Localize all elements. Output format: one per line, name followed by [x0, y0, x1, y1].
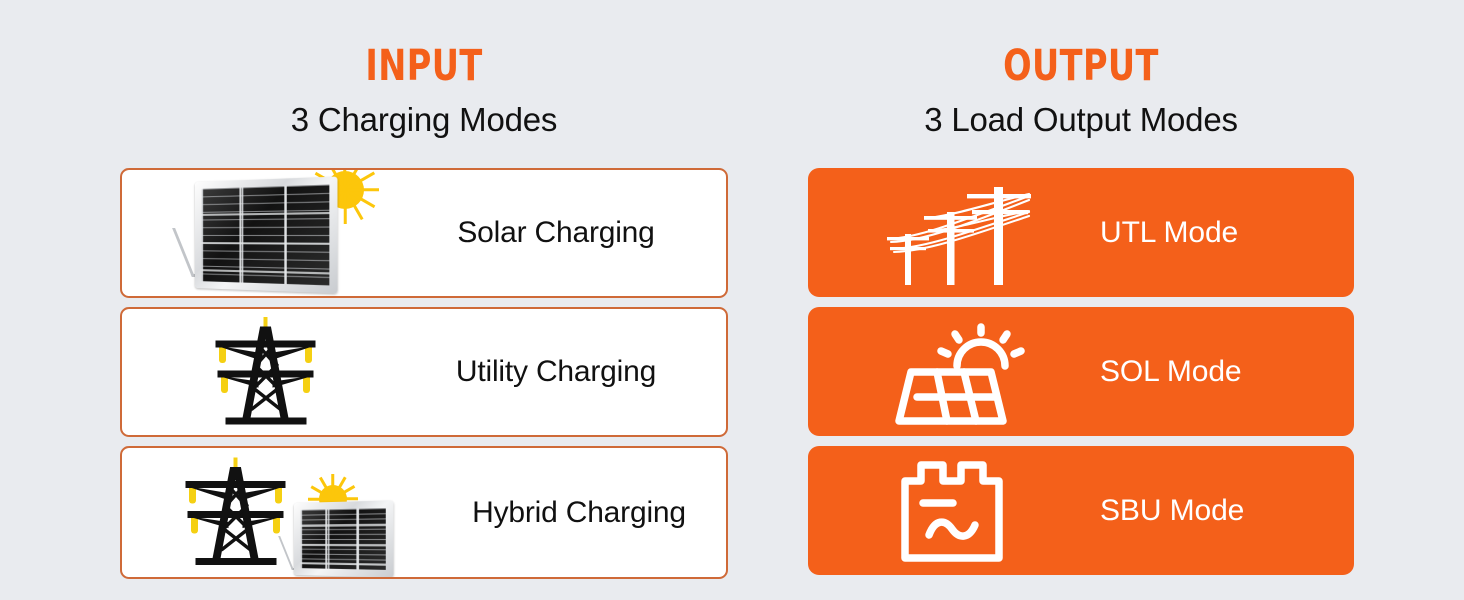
- output-kicker: OUTPUT: [868, 45, 1294, 88]
- input-kicker: INPUT: [187, 45, 661, 88]
- input-card-utility-charging[interactable]: Utility Charging: [120, 307, 728, 437]
- utility-poles-line-icon: [879, 181, 1029, 285]
- input-column: INPUT 3 Charging Modes: [120, 0, 728, 600]
- input-card-label: Hybrid Charging: [442, 496, 726, 530]
- solar-panel-photo: [195, 182, 330, 288]
- output-subhead: 3 Load Output Modes: [808, 102, 1354, 138]
- utl-mode-artwork: [808, 168, 1100, 297]
- output-card-label: UTL Mode: [1100, 216, 1354, 250]
- sol-mode-artwork: [808, 307, 1100, 436]
- input-card-solar-charging[interactable]: Solar Charging: [120, 168, 728, 298]
- input-card-stack: Solar Charging: [120, 168, 728, 588]
- utility-charging-artwork: [122, 309, 412, 435]
- hybrid-charging-artwork: [122, 448, 442, 577]
- battery-dc-ac-line-icon: [899, 459, 1009, 563]
- output-card-label: SOL Mode: [1100, 355, 1354, 389]
- solar-panel-photo: [294, 503, 391, 575]
- sbu-mode-artwork: [808, 446, 1100, 575]
- output-column: OUTPUT 3 Load Output Modes: [808, 0, 1354, 600]
- output-card-sol-mode[interactable]: SOL Mode: [808, 307, 1354, 436]
- output-card-sbu-mode[interactable]: SBU Mode: [808, 446, 1354, 575]
- solar-charging-artwork: [122, 170, 412, 296]
- input-card-label: Utility Charging: [412, 355, 726, 389]
- input-card-hybrid-charging[interactable]: Hybrid Charging: [120, 446, 728, 579]
- output-card-label: SBU Mode: [1100, 494, 1354, 528]
- infographic-canvas: INPUT 3 Charging Modes: [0, 0, 1464, 600]
- solar-panel-sun-line-icon: [891, 319, 1017, 425]
- input-card-label: Solar Charging: [412, 216, 726, 250]
- output-card-utl-mode[interactable]: UTL Mode: [808, 168, 1354, 297]
- transmission-tower-icon: [200, 317, 334, 431]
- output-card-stack: UTL Mode: [808, 168, 1354, 585]
- input-subhead: 3 Charging Modes: [120, 102, 728, 138]
- transmission-tower-icon: [170, 457, 304, 572]
